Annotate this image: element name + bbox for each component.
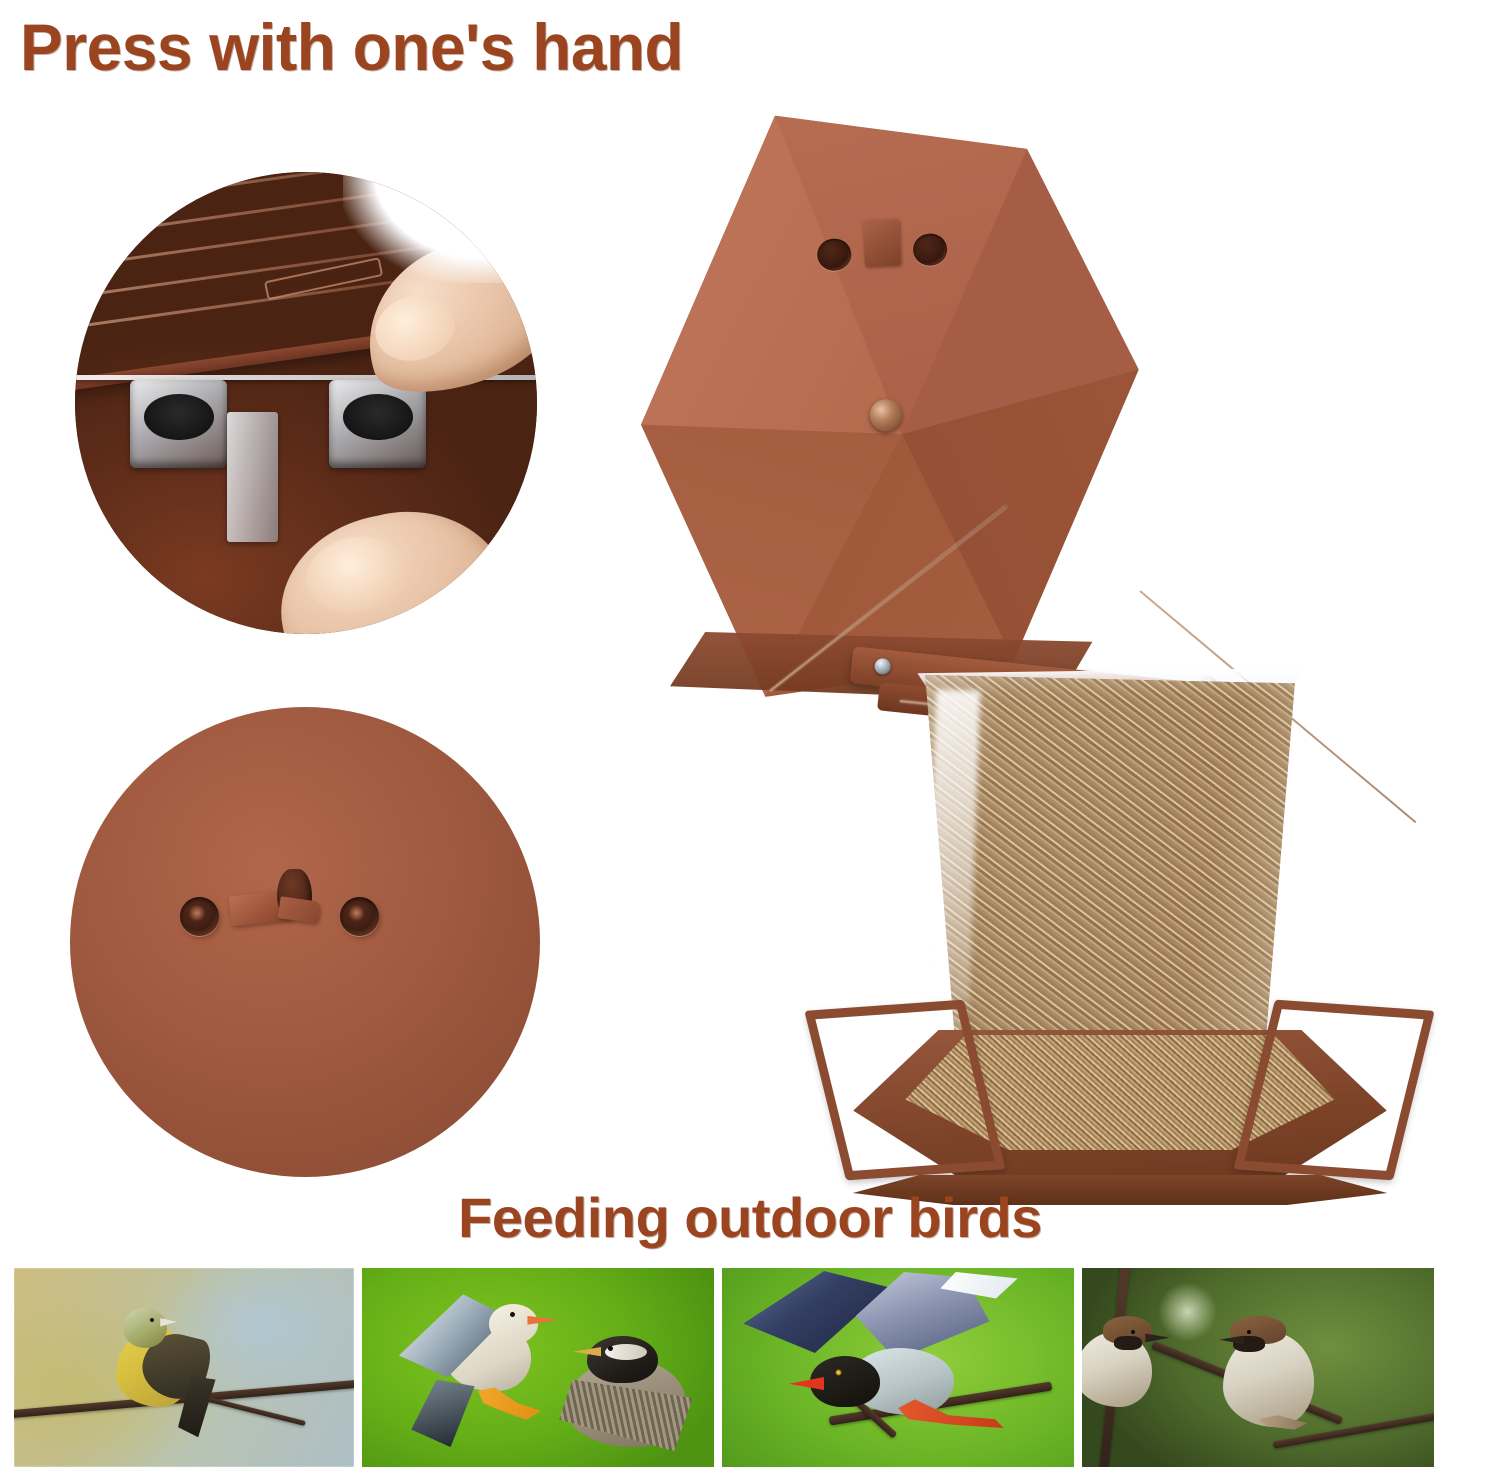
greenfinch-eye (150, 1318, 154, 1322)
sparrow-left-eye (1131, 1330, 1135, 1334)
bird-photo-blue-magpie (722, 1268, 1074, 1467)
bird-photo-sparrows (1082, 1268, 1434, 1467)
section-title-feeding-outdoor-birds: Feeding outdoor birds (0, 1185, 1500, 1250)
photo-highlight (343, 172, 537, 283)
perch-rail-right (1234, 1000, 1436, 1181)
feeder-lid (640, 110, 1140, 690)
hero-product-image (600, 90, 1400, 1180)
lid-screw-group (816, 217, 949, 276)
bird-photo-starlings (362, 1268, 714, 1467)
sparrow-left-cheek-patch (1114, 1336, 1142, 1350)
starling-perched-head (587, 1336, 657, 1384)
lid-screw-hole-right (913, 233, 948, 267)
clear-clip-right (329, 380, 426, 468)
press-lid-scene (75, 172, 537, 634)
bird-photo-strip (14, 1268, 1426, 1467)
detail-photo-press-lid (75, 172, 537, 634)
clear-clip-left (130, 380, 227, 468)
greenfinch-head (123, 1308, 167, 1348)
lid-underside-scene (70, 707, 540, 1177)
lid-hex-body (625, 97, 1155, 702)
centre-latch (230, 872, 333, 938)
bird-photo-greenfinch (14, 1268, 354, 1467)
clear-clip-stem (227, 412, 278, 541)
lid-underside-surface (70, 707, 540, 1177)
lid-latch-nub (862, 219, 901, 267)
perch-rail-left (805, 1000, 1007, 1181)
feeder-tray (830, 970, 1410, 1220)
page-title-press-with-one-hand: Press with one's hand (20, 14, 683, 80)
lid-screw-hole-left (816, 238, 851, 272)
detail-photo-lid-underside (70, 707, 540, 1177)
starling-flying-eye (510, 1312, 515, 1317)
